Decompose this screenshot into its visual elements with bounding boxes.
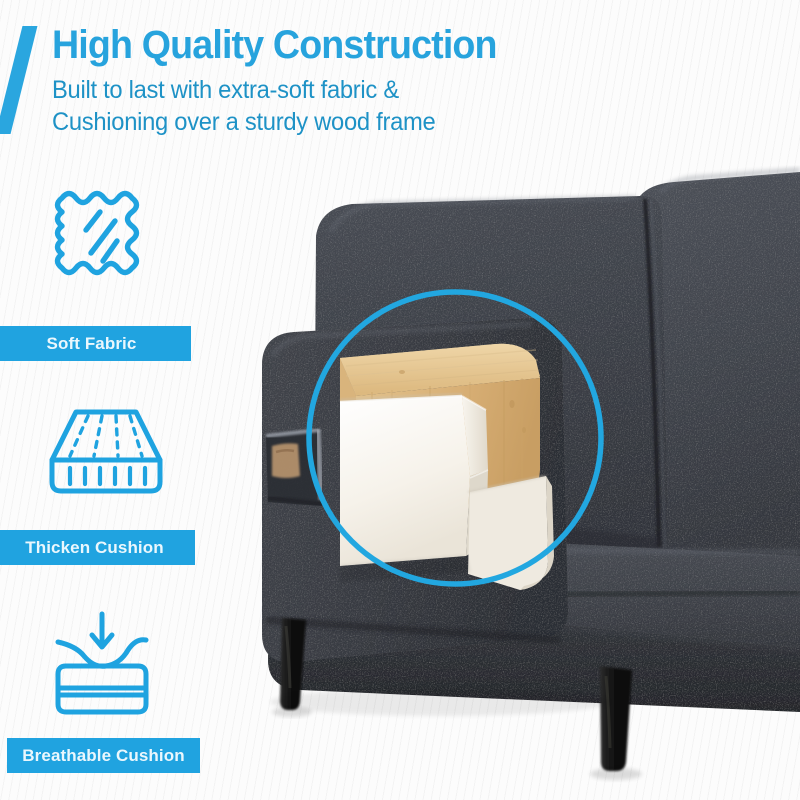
compression-cushion-icon — [42, 608, 162, 723]
feature-label: Soft Fabric — [47, 334, 137, 354]
feature-label: Breathable Cushion — [22, 746, 184, 766]
sofa-side-pocket — [266, 430, 322, 506]
infographic-page: High Quality Construction Built to last … — [0, 0, 800, 800]
feature-label: Thicken Cushion — [25, 538, 163, 558]
subtitle-line-2: Cushioning over a sturdy wood frame — [52, 108, 435, 137]
subtitle-line-1: Built to last with extra-soft fabric & — [52, 76, 399, 105]
accent-bar — [0, 26, 37, 134]
header: High Quality Construction Built to last … — [0, 0, 640, 150]
feature-badge-soft-fabric: Soft Fabric — [0, 326, 191, 361]
fabric-swatch-icon — [48, 178, 158, 298]
mattress-icon — [40, 402, 170, 512]
page-title: High Quality Construction — [52, 23, 497, 68]
feature-badge-thicken-cushion: Thicken Cushion — [0, 530, 195, 565]
feature-badge-breathable-cushion: Breathable Cushion — [7, 738, 200, 773]
arm-cutaway-detail — [340, 344, 554, 590]
